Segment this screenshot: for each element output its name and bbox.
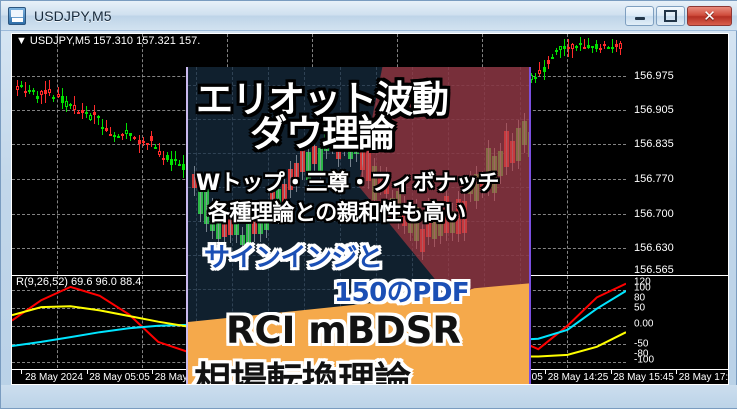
candlestick bbox=[28, 34, 31, 274]
candle-body bbox=[551, 57, 554, 59]
indicator-tick: 0.00 bbox=[634, 319, 653, 330]
candle-body bbox=[563, 46, 566, 49]
candle-body bbox=[599, 48, 602, 50]
candle-body bbox=[57, 94, 60, 97]
candle-body bbox=[138, 140, 141, 144]
price-tick: 156.835 bbox=[634, 138, 674, 150]
candle-wick bbox=[175, 151, 176, 165]
candlestick bbox=[575, 34, 578, 274]
indicator-label: R(9,26,52) 69.6 96.0 88.4 bbox=[16, 276, 141, 288]
time-tick-mark bbox=[676, 370, 677, 374]
candle-body bbox=[36, 96, 39, 98]
time-tick: 28 May 05:05 bbox=[89, 372, 150, 383]
candlestick bbox=[65, 34, 68, 274]
candlestick bbox=[170, 34, 173, 274]
candle-body bbox=[615, 44, 618, 47]
candle-body bbox=[85, 112, 88, 114]
price-tick: 156.565 bbox=[634, 264, 674, 274]
candlestick bbox=[587, 34, 590, 274]
candle-body bbox=[113, 135, 116, 137]
candle-body bbox=[178, 164, 181, 166]
window-controls: ✕ bbox=[625, 6, 732, 26]
candle-body bbox=[89, 115, 92, 120]
candlestick bbox=[559, 34, 562, 274]
candle-body bbox=[162, 158, 165, 160]
time-tick-mark bbox=[545, 370, 546, 374]
candle-wick bbox=[25, 82, 26, 96]
candle-wick bbox=[612, 39, 613, 53]
candlestick bbox=[32, 34, 35, 274]
candlestick bbox=[44, 34, 47, 274]
close-button[interactable]: ✕ bbox=[687, 6, 732, 26]
candle-body bbox=[20, 85, 23, 87]
overlay-line-reversal-theory: 相場転換理論 bbox=[194, 350, 410, 385]
candlestick bbox=[615, 34, 618, 274]
candlestick bbox=[81, 34, 84, 274]
candlestick bbox=[101, 34, 104, 274]
candlestick bbox=[69, 34, 72, 274]
candle-body bbox=[133, 137, 136, 139]
candlestick bbox=[113, 34, 116, 274]
candlestick bbox=[121, 34, 124, 274]
candlestick bbox=[178, 34, 181, 274]
candle-body bbox=[129, 133, 132, 136]
candle-body bbox=[591, 46, 594, 48]
candle-body bbox=[555, 50, 558, 52]
candle-body bbox=[105, 128, 108, 131]
candle-body bbox=[146, 143, 149, 145]
candle-body bbox=[170, 159, 173, 165]
candlestick bbox=[595, 34, 598, 274]
indicator-axis: 12010080500.00-50-80-100 bbox=[626, 276, 729, 368]
overlay-line-patterns: Wトップ・三尊・フィボナッチ bbox=[196, 165, 499, 197]
candle-body bbox=[182, 164, 185, 170]
status-bar bbox=[1, 385, 737, 408]
price-tick: 156.770 bbox=[634, 173, 674, 185]
candle-body bbox=[101, 127, 104, 129]
minimize-button[interactable] bbox=[625, 6, 654, 26]
chart-area[interactable]: 156.975156.905156.835156.770156.700156.6… bbox=[11, 33, 729, 385]
candlestick bbox=[174, 34, 177, 274]
candlestick bbox=[162, 34, 165, 274]
candlestick bbox=[61, 34, 64, 274]
candle-body bbox=[534, 77, 537, 80]
candlestick bbox=[599, 34, 602, 274]
candle-body bbox=[81, 110, 84, 113]
candle-body bbox=[579, 43, 582, 45]
candle-body bbox=[69, 104, 72, 106]
candle-body bbox=[575, 46, 578, 48]
candle-body bbox=[109, 134, 112, 136]
candle-body bbox=[595, 44, 598, 50]
candlestick bbox=[571, 34, 574, 274]
candle-body bbox=[40, 91, 43, 95]
overlay-line-compatibility: 各種理論との親和性も高い bbox=[208, 195, 466, 227]
candle-body bbox=[125, 130, 128, 135]
candlestick bbox=[563, 34, 566, 274]
candlestick bbox=[611, 34, 614, 274]
candlestick bbox=[48, 34, 51, 274]
overlay-candle-wick bbox=[530, 124, 531, 166]
candlestick bbox=[129, 34, 132, 274]
overlay-line-sign-indicator: サインインジと bbox=[204, 237, 383, 274]
candlestick bbox=[89, 34, 92, 274]
candlestick bbox=[105, 34, 108, 274]
indicator-tick: 50 bbox=[634, 303, 645, 314]
price-tick: 156.630 bbox=[634, 242, 674, 254]
candle-body bbox=[65, 101, 68, 107]
candle-body bbox=[538, 70, 541, 74]
candlestick bbox=[97, 34, 100, 274]
candlestick bbox=[538, 34, 541, 274]
candlestick bbox=[547, 34, 550, 274]
candle-body bbox=[611, 47, 614, 49]
time-tick: 28 May 17:05 bbox=[679, 372, 729, 383]
candle-body bbox=[174, 159, 177, 161]
candle-body bbox=[150, 136, 153, 140]
candlestick bbox=[583, 34, 586, 274]
candle-body bbox=[166, 155, 169, 160]
candle-body bbox=[154, 147, 157, 149]
candlestick bbox=[93, 34, 96, 274]
candlestick bbox=[567, 34, 570, 274]
candle-body bbox=[587, 45, 590, 47]
overlay-line-rci-mbdsr: RCI mBDSR bbox=[226, 309, 461, 352]
candlestick bbox=[57, 34, 60, 274]
candle-body bbox=[52, 97, 55, 99]
candle-body bbox=[607, 47, 610, 49]
candlestick bbox=[20, 34, 23, 274]
time-tick: 28 May 14:25 bbox=[548, 372, 609, 383]
candle-body bbox=[24, 91, 27, 93]
candle-body bbox=[97, 116, 100, 118]
maximize-button[interactable] bbox=[656, 6, 685, 26]
candle-body bbox=[48, 89, 51, 93]
candlestick bbox=[166, 34, 169, 274]
candle-body bbox=[61, 96, 64, 103]
window-title: USDJPY,M5 bbox=[34, 8, 112, 24]
candlestick bbox=[555, 34, 558, 274]
candlestick bbox=[182, 34, 185, 274]
candle-body bbox=[93, 112, 96, 115]
overlay-line-dow-theory: ダウ理論 bbox=[250, 103, 394, 157]
time-tick-mark bbox=[87, 370, 88, 374]
candlestick bbox=[534, 34, 537, 274]
candlestick bbox=[138, 34, 141, 274]
candlestick bbox=[603, 34, 606, 274]
candlestick bbox=[36, 34, 39, 274]
candle-body bbox=[28, 90, 31, 92]
candlestick bbox=[16, 34, 19, 274]
candlestick bbox=[73, 34, 76, 274]
candle-body bbox=[117, 136, 120, 138]
candlestick bbox=[150, 34, 153, 274]
window-titlebar: USDJPY,M5 ✕ bbox=[1, 1, 737, 31]
candle-body bbox=[559, 46, 562, 50]
overlay-candle-wick bbox=[194, 166, 195, 197]
time-tick: 28 May 15:45 bbox=[613, 372, 674, 383]
candle-body bbox=[16, 86, 19, 90]
candle-body bbox=[73, 105, 76, 110]
candle-body bbox=[158, 151, 161, 154]
candle-body bbox=[77, 112, 80, 114]
promo-overlay: エリオット波動 ダウ理論 Wトップ・三尊・フィボナッチ 各種理論との親和性も高い… bbox=[186, 67, 531, 385]
candle-body bbox=[142, 141, 145, 143]
chart-quote-text: USDJPY,M5 157.310 157.321 157. bbox=[30, 35, 200, 47]
candlestick bbox=[24, 34, 27, 274]
candlestick bbox=[543, 34, 546, 274]
candlestick bbox=[85, 34, 88, 274]
candlestick bbox=[125, 34, 128, 274]
candlestick bbox=[154, 34, 157, 274]
indicator-tick: -100 bbox=[634, 355, 654, 366]
candlestick bbox=[607, 34, 610, 274]
candlestick bbox=[109, 34, 112, 274]
candlestick bbox=[40, 34, 43, 274]
candlestick bbox=[133, 34, 136, 274]
mt4-chart-window: USDJPY,M5 ✕ 156.975156.905156.835156.770… bbox=[0, 0, 737, 409]
candle-body bbox=[571, 44, 574, 49]
candle-wick bbox=[159, 143, 160, 157]
candlestick bbox=[619, 34, 622, 274]
candle-body bbox=[547, 60, 550, 64]
candlestick bbox=[591, 34, 594, 274]
price-tick: 156.975 bbox=[634, 70, 674, 82]
candle-body bbox=[619, 43, 622, 49]
candle-body bbox=[567, 47, 570, 49]
candlestick bbox=[146, 34, 149, 274]
candlestick bbox=[551, 34, 554, 274]
candle-body bbox=[121, 134, 124, 136]
candlestick bbox=[142, 34, 145, 274]
candle-body bbox=[44, 90, 47, 95]
time-tick-mark bbox=[611, 370, 612, 374]
candlestick bbox=[52, 34, 55, 274]
chart-app-icon bbox=[8, 7, 26, 25]
candle-body bbox=[583, 47, 586, 49]
chart-symbol-label: ▼USDJPY,M5 157.310 157.321 157. bbox=[16, 35, 200, 47]
price-tick: 156.700 bbox=[634, 208, 674, 220]
candlestick bbox=[158, 34, 161, 274]
candlestick bbox=[579, 34, 582, 274]
overlay-line-150-pdf: 150のPDF bbox=[334, 272, 469, 309]
candlestick bbox=[117, 34, 120, 274]
time-tick-mark bbox=[21, 370, 22, 374]
candle-body bbox=[543, 67, 546, 72]
candle-body bbox=[32, 90, 35, 92]
candle-body bbox=[603, 44, 606, 47]
chart-collapse-icon[interactable]: ▼ bbox=[16, 35, 27, 47]
time-tick-mark bbox=[152, 370, 153, 374]
price-tick: 156.905 bbox=[634, 104, 674, 116]
candlestick bbox=[77, 34, 80, 274]
time-tick: 28 May 2024 bbox=[25, 372, 83, 383]
price-axis: 156.975156.905156.835156.770156.700156.6… bbox=[626, 34, 729, 274]
